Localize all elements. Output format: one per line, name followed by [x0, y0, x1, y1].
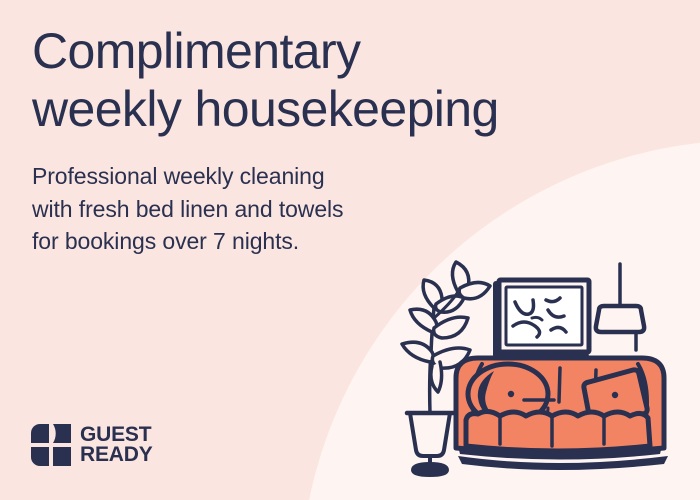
- living-room-illustration: [396, 258, 700, 500]
- promo-banner: Complimentary weekly housekeeping Profes…: [0, 0, 700, 500]
- sofa-icon: [456, 358, 668, 470]
- brand-wordmark: GUEST READY: [80, 425, 153, 465]
- framed-artwork-icon: [496, 280, 589, 356]
- subtitle-text: Professional weekly cleaning with fresh …: [32, 160, 452, 258]
- pendant-lamp-icon: [596, 264, 644, 350]
- brand-logo[interactable]: GUEST READY: [31, 424, 153, 466]
- guestready-mark-icon: [31, 424, 71, 466]
- banner-content: Complimentary weekly housekeeping Profes…: [0, 0, 700, 500]
- page-title: Complimentary weekly housekeeping: [32, 22, 642, 138]
